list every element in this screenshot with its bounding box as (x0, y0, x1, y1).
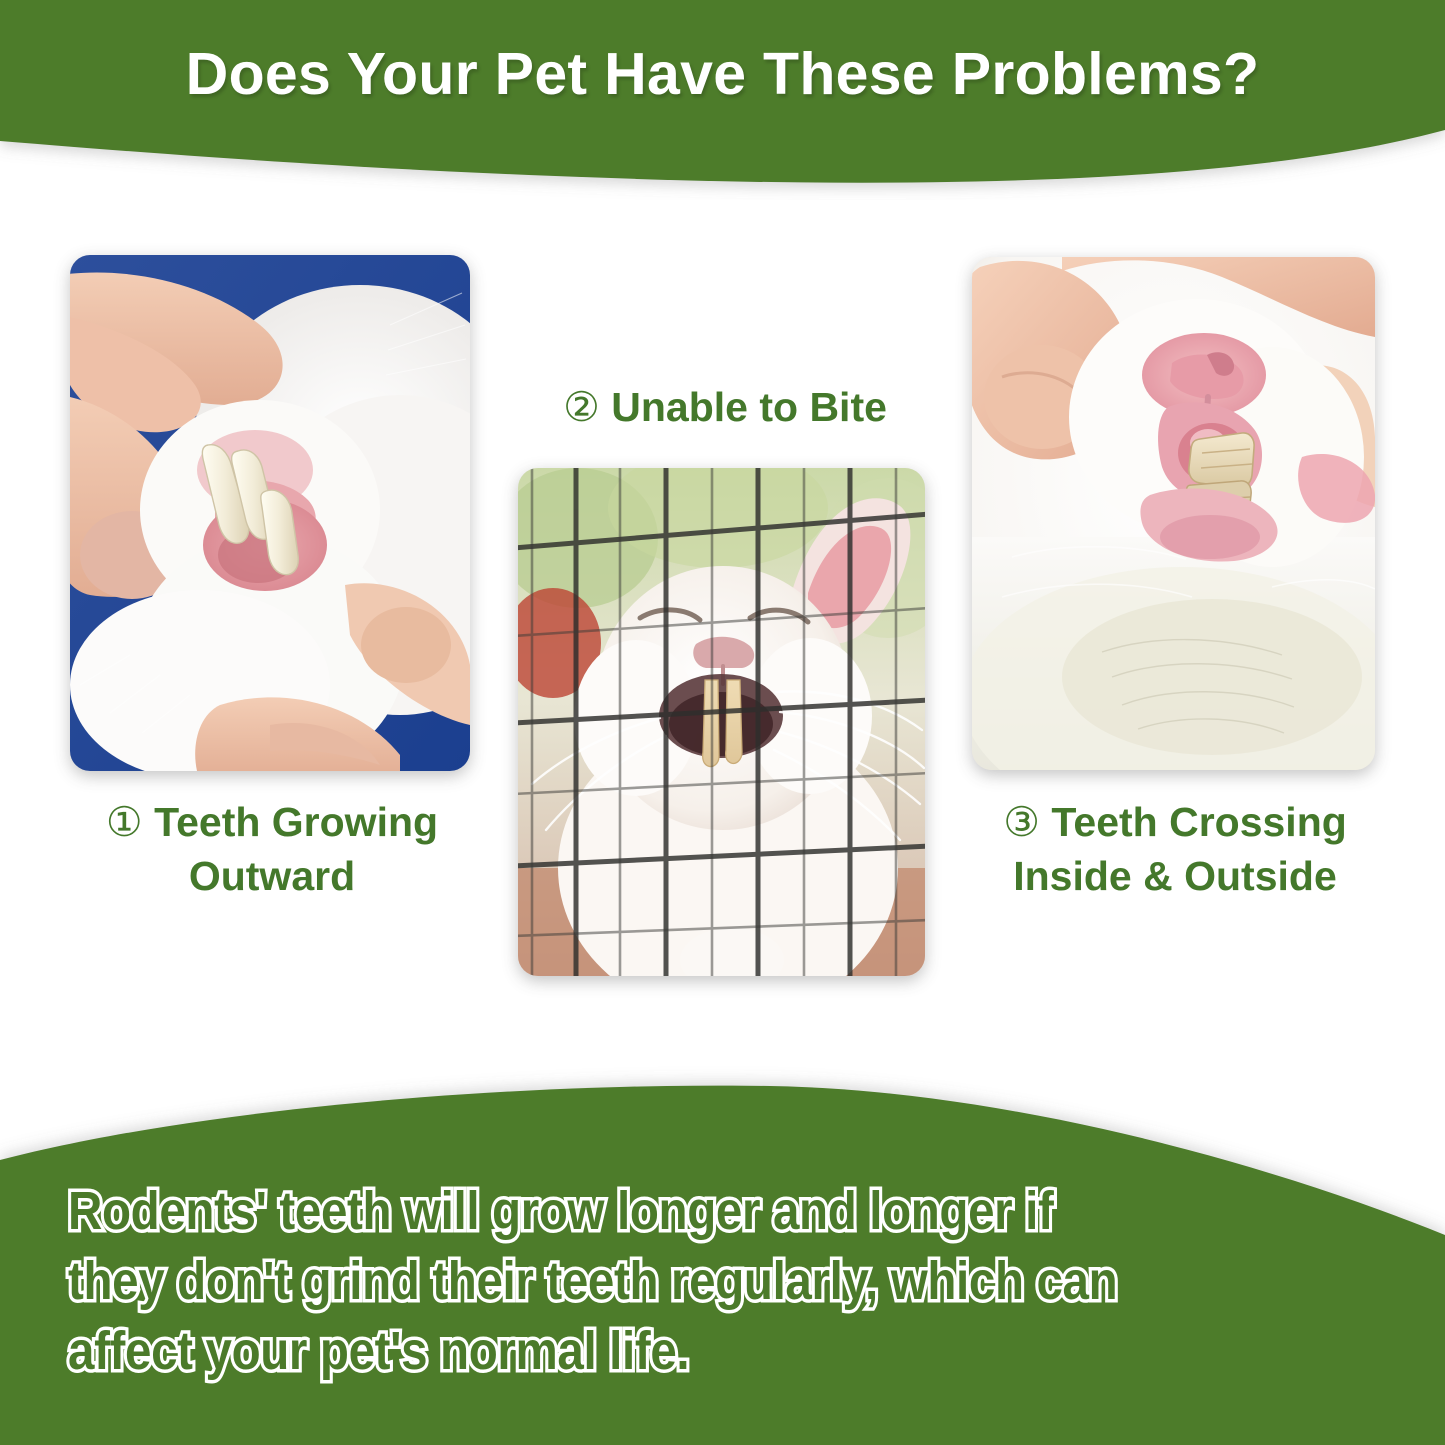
page-title: Does Your Pet Have These Problems? (0, 44, 1445, 106)
problem-caption-2: ② Unable to Bite (505, 380, 945, 434)
rabbit-unable-to-bite-in-cage-photo (518, 468, 925, 976)
problem-number-2: ② (563, 384, 600, 430)
footer-message: Rodents' teeth will grow longer and long… (68, 1176, 1159, 1387)
problem-label-1: Teeth Growing Outward (154, 799, 438, 899)
problem-label-3: Teeth Crossing Inside & Outside (1013, 799, 1347, 899)
problem-photo-1 (70, 255, 470, 771)
rabbit-teeth-growing-outward-photo (70, 255, 470, 771)
problem-number-3: ③ (1003, 799, 1040, 845)
problem-photo-2 (518, 468, 925, 976)
problem-number-1: ① (106, 799, 143, 845)
problem-caption-1: ① Teeth Growing Outward (52, 795, 492, 903)
problem-caption-3: ③ Teeth Crossing Inside & Outside (955, 795, 1395, 903)
rabbit-teeth-crossing-photo (972, 257, 1375, 770)
problem-label-2: Unable to Bite (611, 384, 887, 430)
problem-photo-3 (972, 257, 1375, 770)
